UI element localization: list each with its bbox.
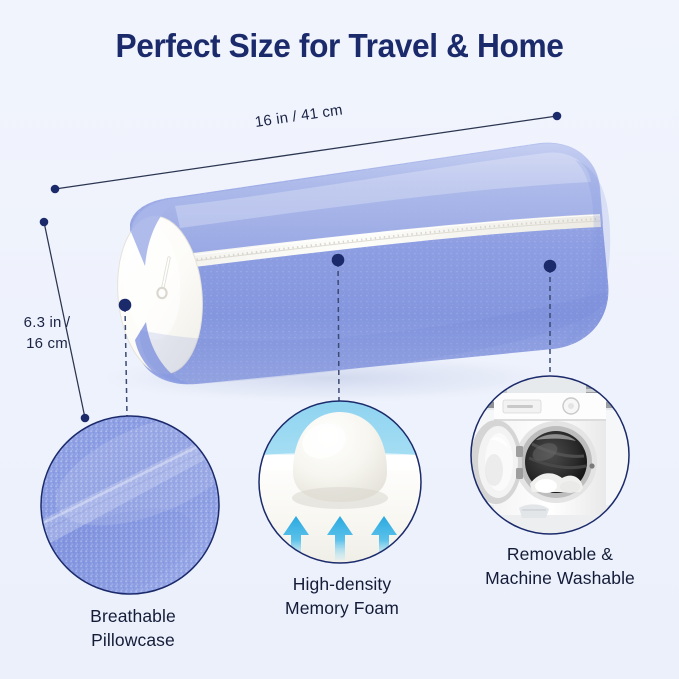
feature-caption-line2: Pillowcase bbox=[28, 628, 238, 652]
feature-caption-line2: Memory Foam bbox=[237, 596, 447, 620]
feature-thumb-memory-foam bbox=[259, 401, 421, 563]
dimension-label-diameter-line2: 16 cm bbox=[26, 335, 68, 352]
dimension-endpoint-dot bbox=[81, 414, 90, 423]
feature-caption-line2: Machine Washable bbox=[445, 566, 675, 590]
dimension-endpoint-dot bbox=[553, 112, 562, 121]
feature-caption-machine-washable: Removable & Machine Washable bbox=[445, 542, 675, 590]
feature-caption-breathable-pillowcase: Breathable Pillowcase bbox=[28, 604, 238, 652]
dimension-label-diameter: 6.3 in / 16 cm bbox=[4, 312, 90, 354]
dimension-endpoint-dot bbox=[40, 218, 49, 227]
feature-caption-line1: Breathable bbox=[90, 606, 176, 626]
feature-thumb-fabric-texture bbox=[2, 392, 259, 633]
feature-caption-memory-foam: High-density Memory Foam bbox=[237, 572, 447, 620]
callout-dot bbox=[332, 254, 345, 267]
support-arrows-icon bbox=[283, 516, 397, 560]
dimension-label-diameter-line1: 6.3 in / bbox=[24, 314, 71, 331]
bolster-pillow bbox=[111, 143, 610, 385]
callout-dot bbox=[544, 260, 557, 273]
feature-thumb-washing-machine bbox=[470, 376, 630, 535]
feature-caption-line1: High-density bbox=[293, 574, 391, 594]
callout-dot bbox=[119, 299, 132, 312]
infographic-canvas: Perfect Size for Travel & Home bbox=[0, 0, 679, 679]
dimension-endpoint-dot bbox=[51, 185, 60, 194]
feature-caption-line1: Removable & bbox=[507, 544, 613, 564]
washer-door bbox=[470, 420, 522, 504]
